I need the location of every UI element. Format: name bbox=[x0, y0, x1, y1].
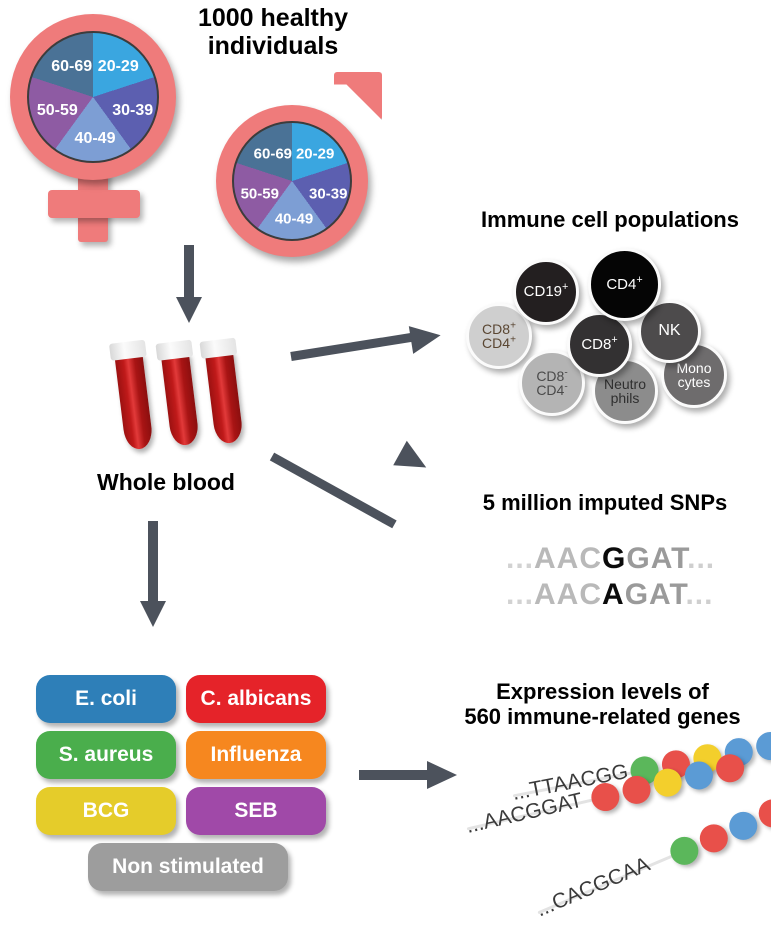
dna-bead bbox=[620, 773, 654, 807]
immune-cell-cd8[interactable]: CD8+ bbox=[567, 312, 632, 377]
dna-bead bbox=[589, 780, 623, 814]
dna-sequence-text: ...CACGCAA bbox=[533, 853, 654, 923]
dna-bead bbox=[695, 820, 732, 857]
immune-cell-cd19[interactable]: CD19+ bbox=[513, 259, 579, 325]
dna-bead bbox=[651, 766, 685, 800]
dna-bead bbox=[666, 833, 703, 870]
immune-cell-cd4[interactable]: CD4+ bbox=[588, 248, 661, 321]
dna-bead bbox=[682, 759, 716, 793]
dna-bead bbox=[713, 751, 747, 785]
dna-bead bbox=[725, 808, 762, 845]
dna-strand-group: ...TTAACGG...AACGGAT...CACGCAA bbox=[0, 0, 771, 922]
